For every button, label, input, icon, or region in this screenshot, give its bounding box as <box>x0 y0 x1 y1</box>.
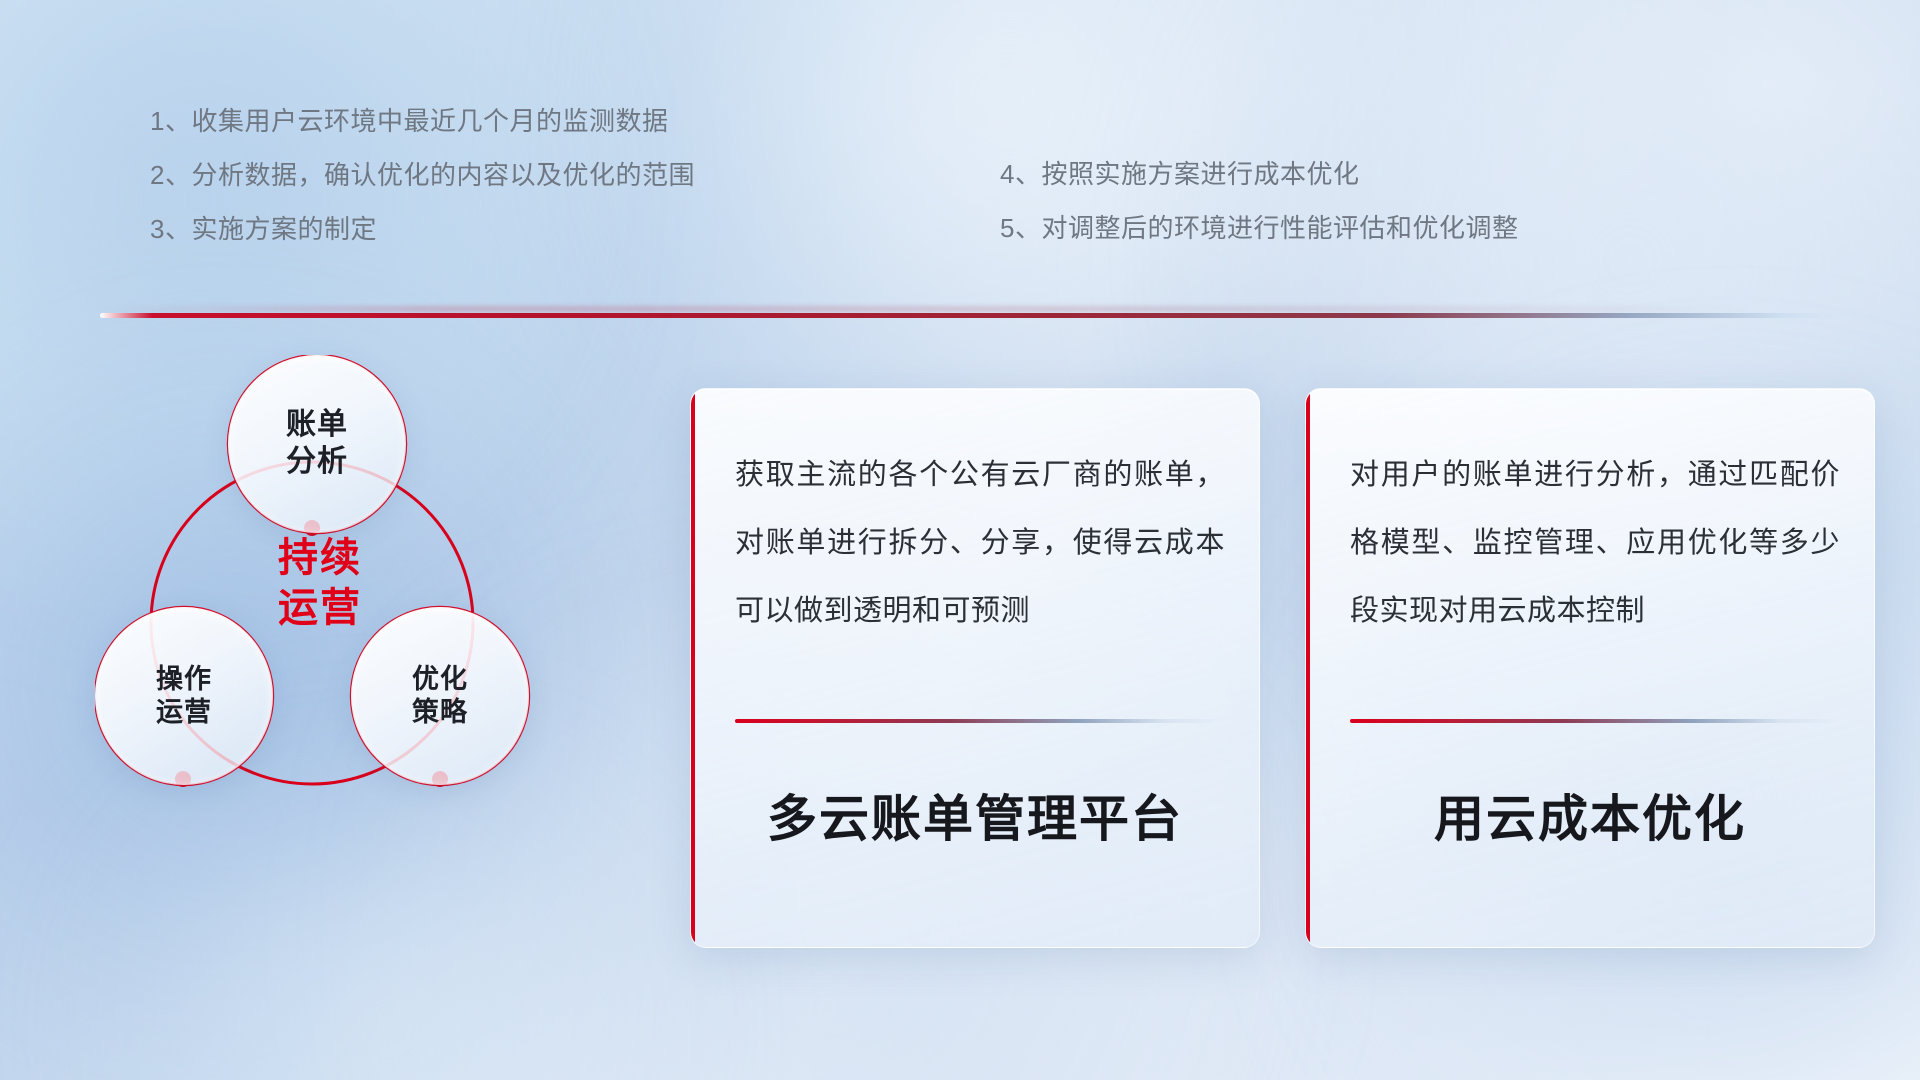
card-body-text: 对用户的账单进行分析，通过匹配价格模型、监控管理、应用优化等多少段实现对用云成本… <box>1350 441 1840 645</box>
feature-card-cloud-cost-optimization[interactable]: 对用户的账单进行分析，通过匹配价格模型、监控管理、应用优化等多少段实现对用云成本… <box>1305 388 1875 948</box>
step-item-5: 5、对调整后的环境进行性能评估和优化调整 <box>1000 201 1518 255</box>
bubble-label-line1: 账单 <box>286 408 348 441</box>
card-body-text: 获取主流的各个公有云厂商的账单，对账单进行拆分、分享，使得云成本可以做到透明和可… <box>735 441 1225 645</box>
steps-list-right: 4、按照实施方案进行成本优化 5、对调整后的环境进行性能评估和优化调整 <box>1000 147 1518 255</box>
section-divider <box>100 313 1838 318</box>
card-divider <box>735 719 1223 723</box>
steps-list-left: 1、收集用户云环境中最近几个月的监测数据 2、分析数据，确认优化的内容以及优化的… <box>150 94 695 256</box>
center-label-line2: 运营 <box>278 586 362 630</box>
center-label-line1: 持续 <box>278 536 362 580</box>
diagram-bubble-optimization-strategy[interactable]: 优化 策略 <box>351 607 529 785</box>
diagram-bubble-operations[interactable]: 操作 运营 <box>95 607 273 785</box>
feature-card-multicloud-billing[interactable]: 获取主流的各个公有云厂商的账单，对账单进行拆分、分享，使得云成本可以做到透明和可… <box>690 388 1260 948</box>
bubble-label-line2: 运营 <box>156 697 212 727</box>
bubble-label: 账单 分析 <box>286 407 348 480</box>
bubble-label-line1: 操作 <box>156 664 212 694</box>
bubble-label: 优化 策略 <box>412 663 468 729</box>
continuous-operation-diagram: 账单 分析 操作 运营 优化 策略 持续 运营 <box>95 355 615 935</box>
card-divider <box>1350 719 1838 723</box>
diagram-center-label: 持续 运营 <box>205 533 435 633</box>
diagram-bubble-bill-analysis[interactable]: 账单 分析 <box>228 355 406 533</box>
bubble-label-line2: 策略 <box>412 697 468 727</box>
slide-stage: 1、收集用户云环境中最近几个月的监测数据 2、分析数据，确认优化的内容以及优化的… <box>0 0 1920 1080</box>
step-item-1: 1、收集用户云环境中最近几个月的监测数据 <box>150 94 695 148</box>
card-title: 多云账单管理平台 <box>691 779 1259 851</box>
step-item-3: 3、实施方案的制定 <box>150 202 695 256</box>
bubble-label-line1: 优化 <box>412 664 468 694</box>
card-title: 用云成本优化 <box>1306 779 1874 851</box>
step-item-4: 4、按照实施方案进行成本优化 <box>1000 147 1518 201</box>
bubble-label-line2: 分析 <box>286 445 348 478</box>
step-item-2: 2、分析数据，确认优化的内容以及优化的范围 <box>150 148 695 202</box>
bubble-label: 操作 运营 <box>156 663 212 729</box>
